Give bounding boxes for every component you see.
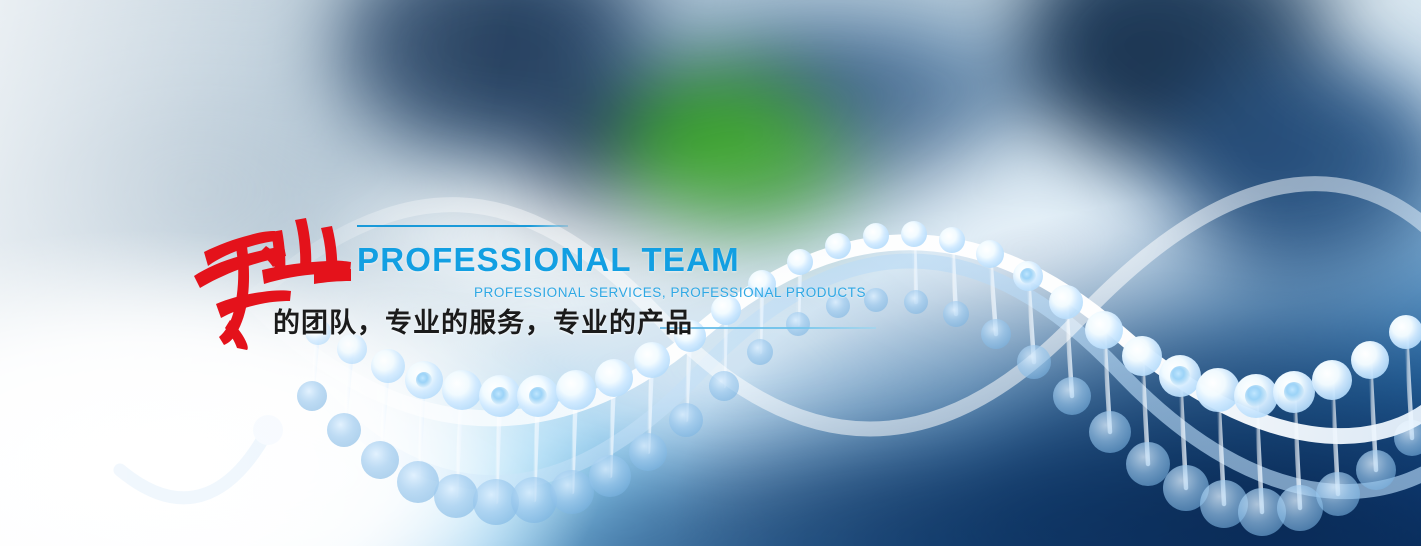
top-divider-line <box>357 225 568 227</box>
page-title: PROFESSIONAL TEAM <box>357 243 740 276</box>
page-subtitle: PROFESSIONAL SERVICES, PROFESSIONAL PROD… <box>474 286 866 300</box>
chinese-tagline: 的团队，专业的服务，专业的产品 <box>273 307 693 341</box>
banner-text-block: PROFESSIONAL TEAM PROFESSIONAL SERVICES,… <box>0 0 1421 546</box>
promo-banner: PROFESSIONAL TEAM PROFESSIONAL SERVICES,… <box>0 0 1421 546</box>
